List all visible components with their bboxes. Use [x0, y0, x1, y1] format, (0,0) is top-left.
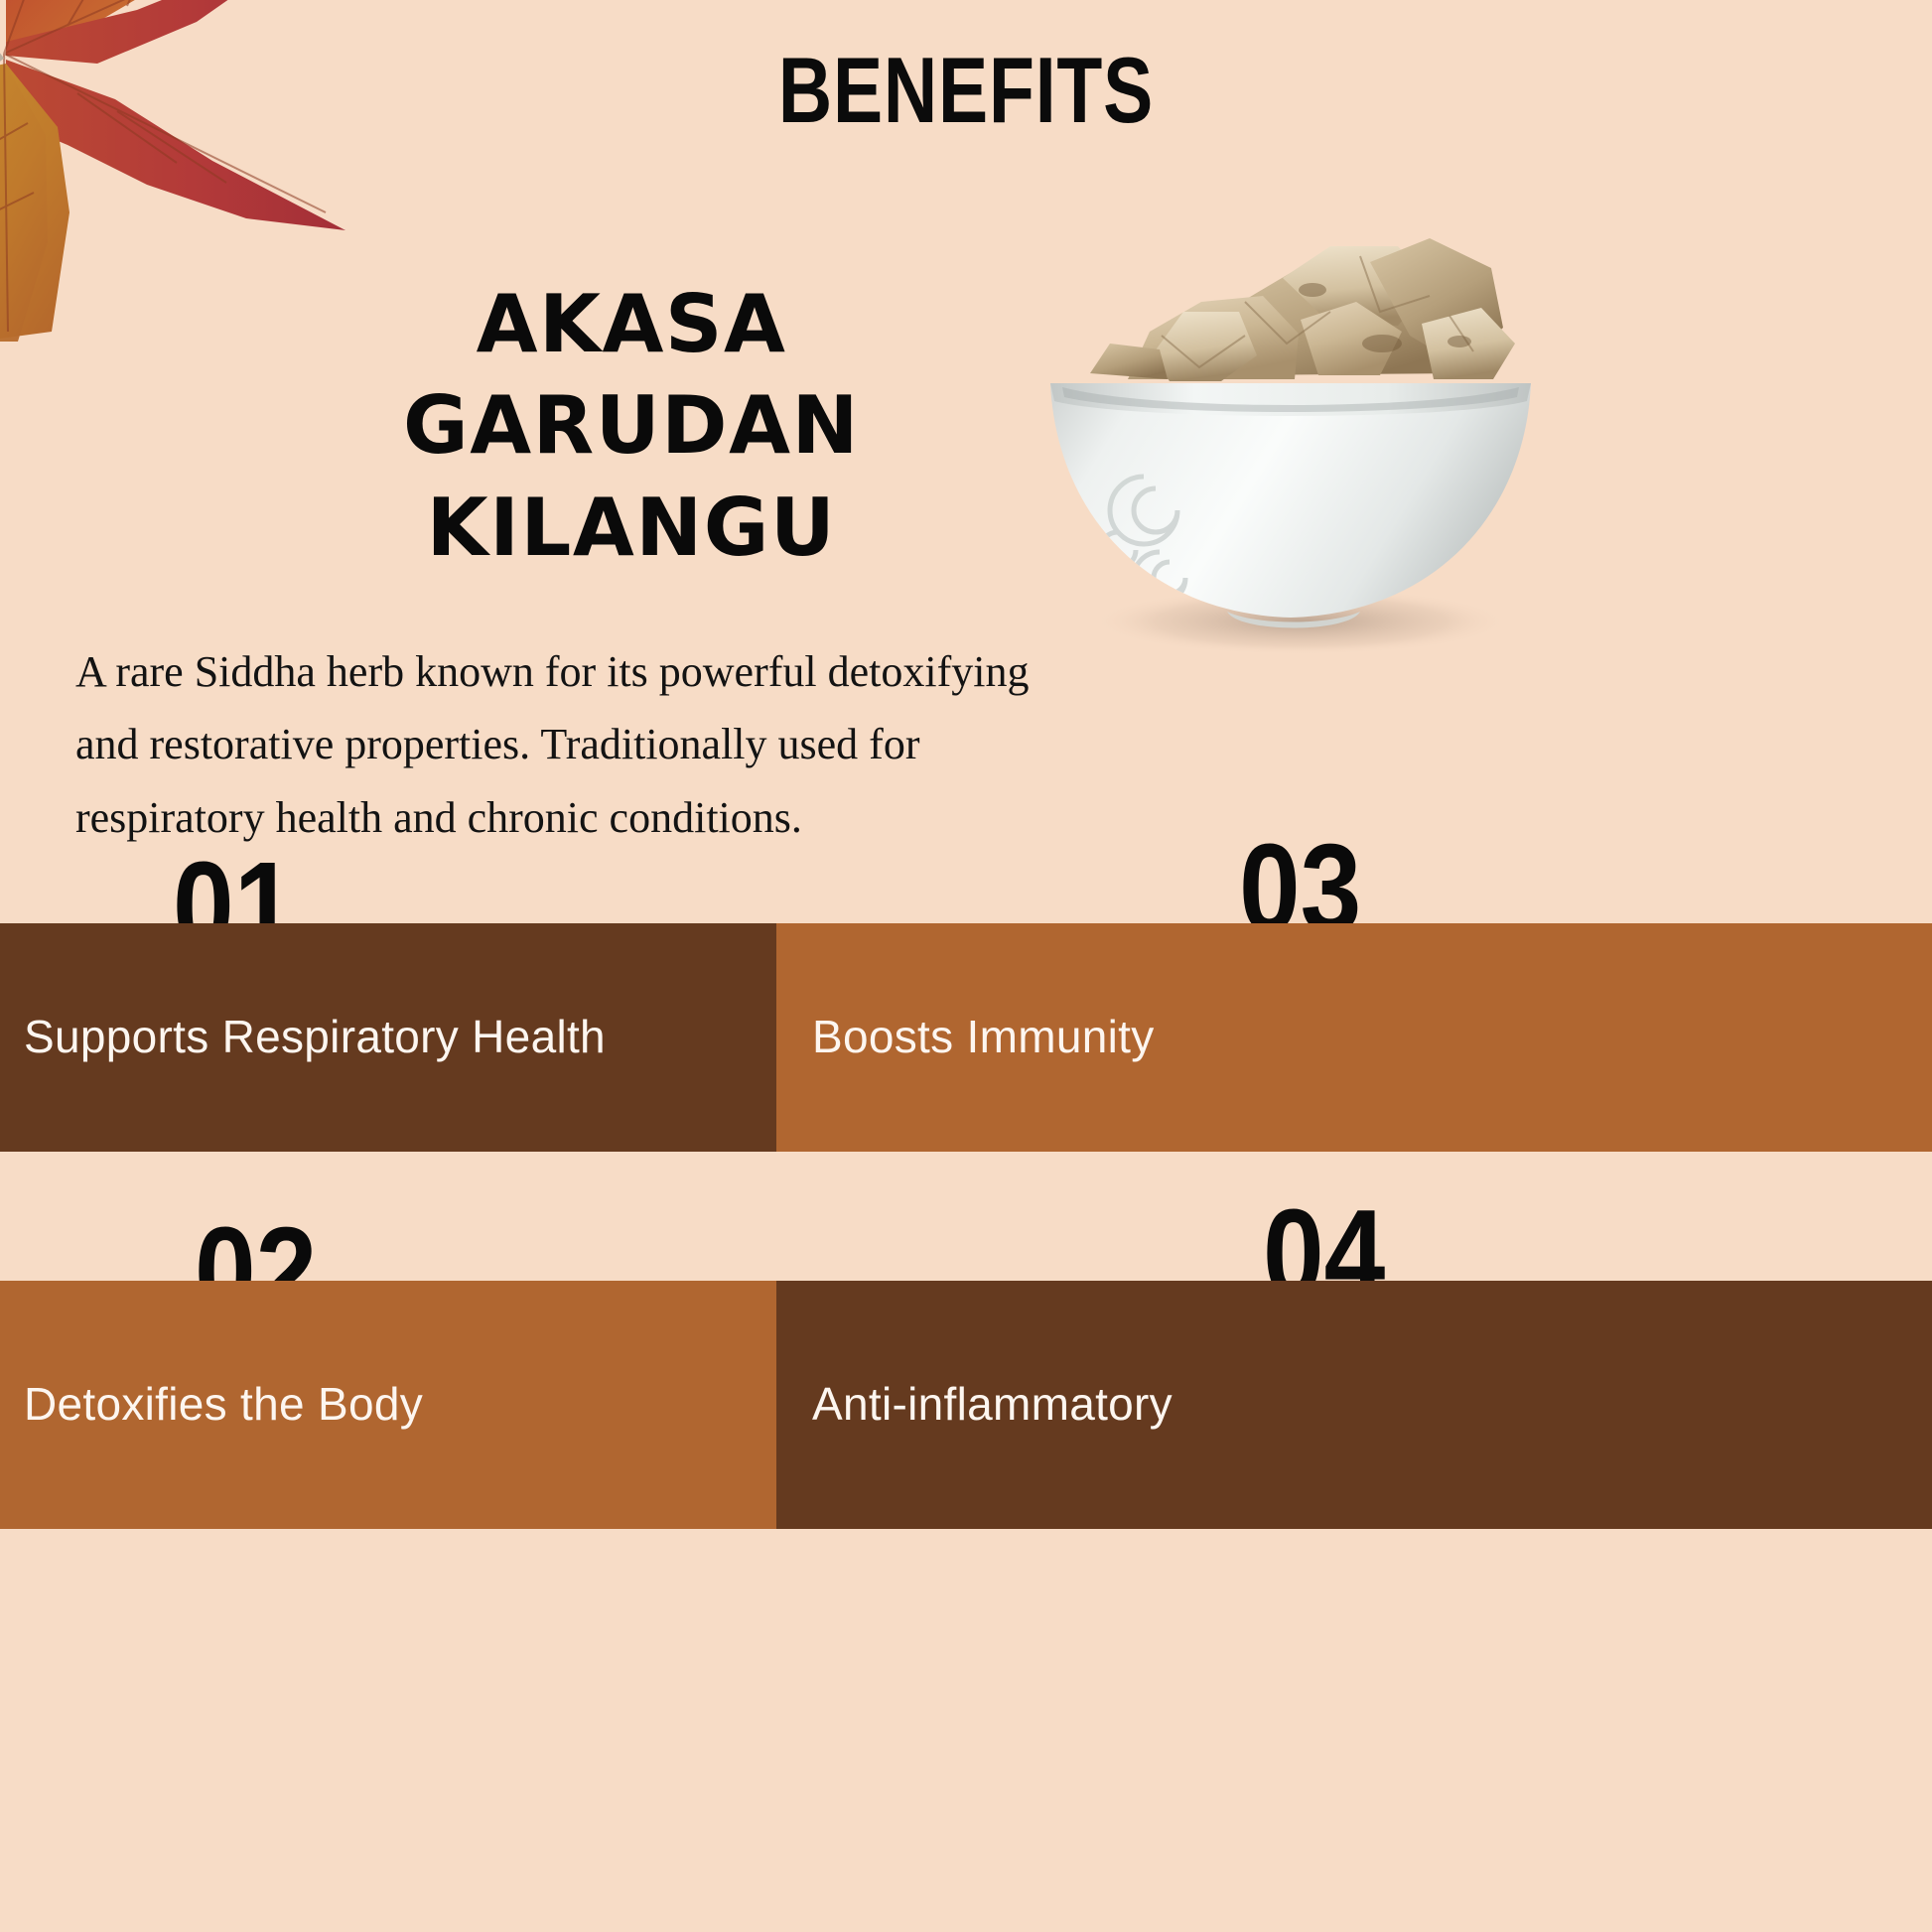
benefit-band-01[interactable]: Supports Respiratory Health — [0, 923, 776, 1152]
benefit-label: Supports Respiratory Health — [24, 1010, 606, 1064]
page-title-line-1: AKASA GARUDAN — [234, 274, 1029, 478]
benefits-grid: 01 Supports Respiratory Health 03 Boosts… — [0, 894, 1932, 1932]
benefit-label: Detoxifies the Body — [24, 1377, 423, 1432]
product-description: A rare Siddha herb known for its powerfu… — [75, 635, 1043, 854]
product-photo — [1033, 216, 1549, 663]
page-title: AKASA GARUDAN KILANGU — [234, 274, 1029, 579]
benefit-label: Boosts Immunity — [812, 1010, 1155, 1064]
page-title-line-2: KILANGU — [234, 478, 1029, 579]
page-kicker: BENEFITS — [194, 44, 1739, 137]
benefit-label: Anti-inflammatory — [812, 1377, 1173, 1432]
benefit-band-02[interactable]: Detoxifies the Body — [0, 1281, 776, 1529]
benefit-band-03[interactable]: Boosts Immunity — [776, 923, 1932, 1152]
benefit-band-04[interactable]: Anti-inflammatory — [776, 1281, 1932, 1529]
